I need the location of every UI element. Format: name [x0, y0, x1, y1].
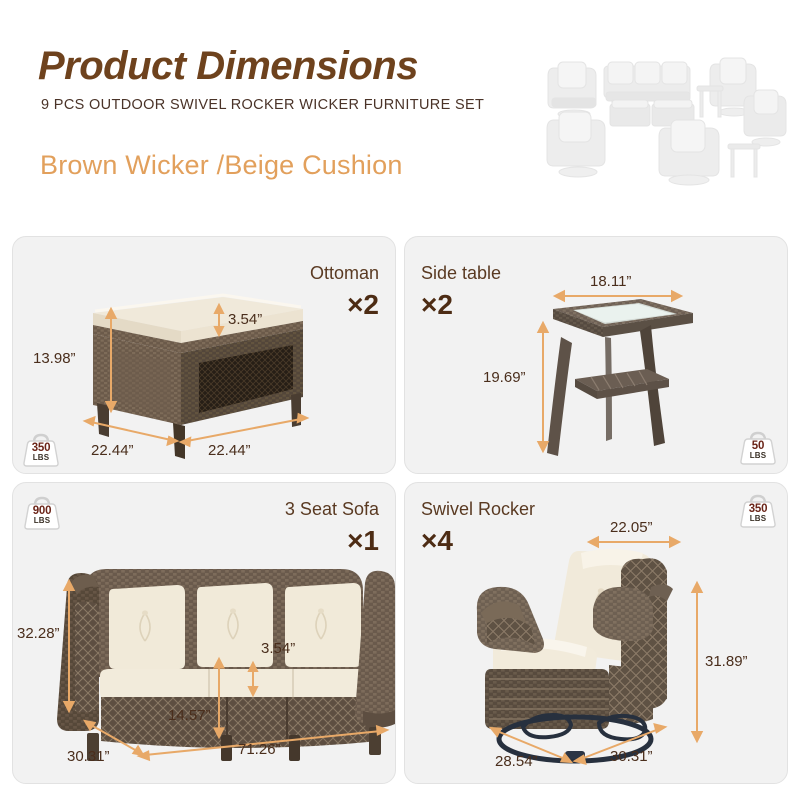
page-subtitle: 9 PCS OUTDOOR SWIVEL ROCKER WICKER FURNI…	[41, 97, 484, 113]
header: Product Dimensions 9 PCS OUTDOOR SWIVEL …	[0, 0, 800, 225]
swivel-rocker-dim-height: 31.89”	[705, 653, 748, 670]
color-variant-label: Brown Wicker /Beige Cushion	[40, 150, 403, 181]
side-table-dim-width: 18.11”	[590, 273, 631, 290]
sofa-dim-width: 71.26”	[238, 741, 281, 758]
swivel-rocker-dim-depth: 30.31”	[610, 748, 653, 765]
swivel-rocker-dim-width: 22.05”	[610, 519, 653, 536]
patio-furniture-set-illustration-icon	[532, 48, 790, 198]
swivel-rocker-illustration	[405, 483, 788, 784]
panel-side-table[interactable]: Side table ×2 50 LBS	[404, 236, 788, 474]
ottoman-dim-height: 13.98”	[33, 350, 76, 367]
swivel-rocker-dim-base-width: 28.54”	[495, 753, 538, 770]
panel-ottoman[interactable]: Ottoman ×2 350 LBS	[12, 236, 396, 474]
sofa-dim-seat-height: 14.57”	[168, 707, 211, 724]
side-table-dim-height: 19.69”	[483, 369, 526, 386]
panel-swivel-rocker[interactable]: Swivel Rocker ×4 350 LBS	[404, 482, 788, 784]
ottoman-dim-width: 22.44”	[208, 442, 251, 459]
sofa-illustration	[13, 483, 396, 784]
product-panel-grid: Ottoman ×2 350 LBS	[12, 236, 788, 784]
sofa-dim-depth: 30.31”	[67, 748, 110, 765]
sofa-dim-cushion-thickness: 3.54”	[261, 640, 295, 657]
panel-three-seat-sofa[interactable]: 3 Seat Sofa ×1 900 LBS	[12, 482, 396, 784]
ottoman-dim-depth: 22.44”	[91, 442, 134, 459]
ottoman-dim-cushion-thickness: 3.54”	[228, 311, 262, 328]
sofa-dim-height: 32.28”	[17, 625, 60, 642]
page-title: Product Dimensions	[38, 44, 418, 89]
